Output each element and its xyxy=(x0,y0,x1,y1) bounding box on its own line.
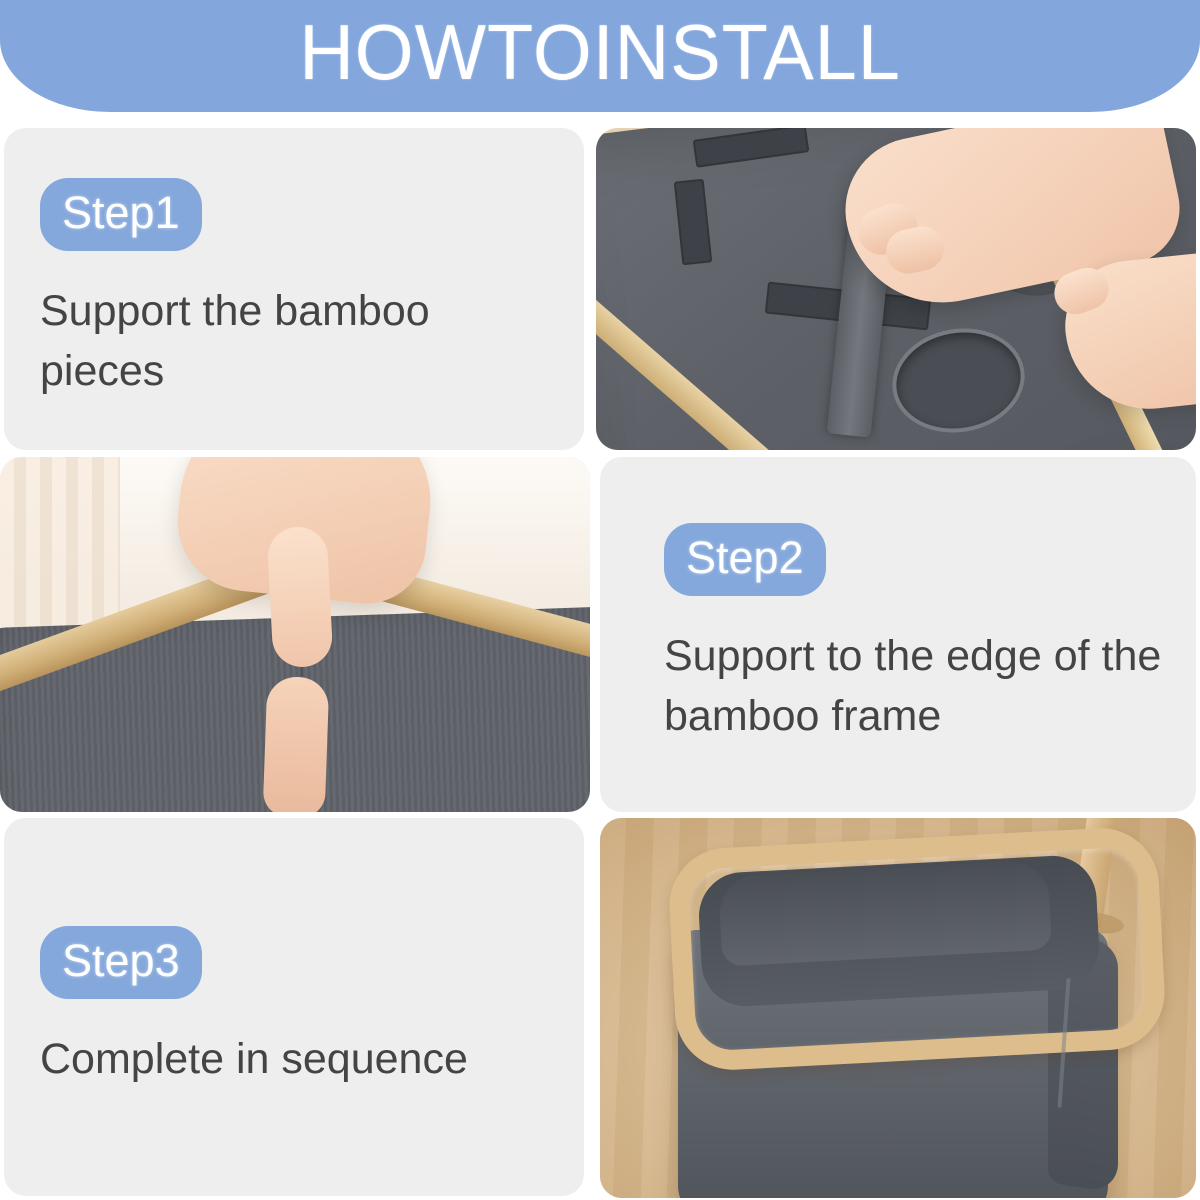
step-2-content: Step2 Support to the edge of the bamboo … xyxy=(600,523,1196,746)
step-2-badge: Step2 xyxy=(664,523,826,596)
step-3-photo-illustration xyxy=(600,818,1196,1198)
step-3-description: Complete in sequence xyxy=(40,1029,520,1089)
index-finger-icon xyxy=(266,526,333,669)
step-3-badge: Step3 xyxy=(40,926,202,999)
thumb-icon xyxy=(263,676,330,812)
step-1-description: Support the bamboo pieces xyxy=(40,281,520,401)
step-2-description: Support to the edge of the bamboo frame xyxy=(664,626,1184,746)
page-title: HOWTOINSTALL xyxy=(18,6,1182,98)
step-3-text-panel: Step3 Complete in sequence xyxy=(4,818,584,1196)
step-1-photo-illustration xyxy=(596,128,1196,450)
step-1-text-panel: Step1 Support the bamboo pieces xyxy=(4,128,584,450)
step-3-content: Step3 Complete in sequence xyxy=(4,926,584,1089)
step-1-content: Step1 Support the bamboo pieces xyxy=(4,178,584,401)
step-2-text-panel: Step2 Support to the edge of the bamboo … xyxy=(600,457,1196,812)
step-1-photo xyxy=(596,128,1196,450)
step-3-photo xyxy=(600,818,1196,1198)
header-banner: HOWTOINSTALL xyxy=(0,0,1200,112)
step-1-badge: Step1 xyxy=(40,178,202,251)
step-2-photo-illustration xyxy=(0,457,590,812)
bamboo-rim xyxy=(667,825,1168,1072)
step-2-photo xyxy=(0,457,590,812)
